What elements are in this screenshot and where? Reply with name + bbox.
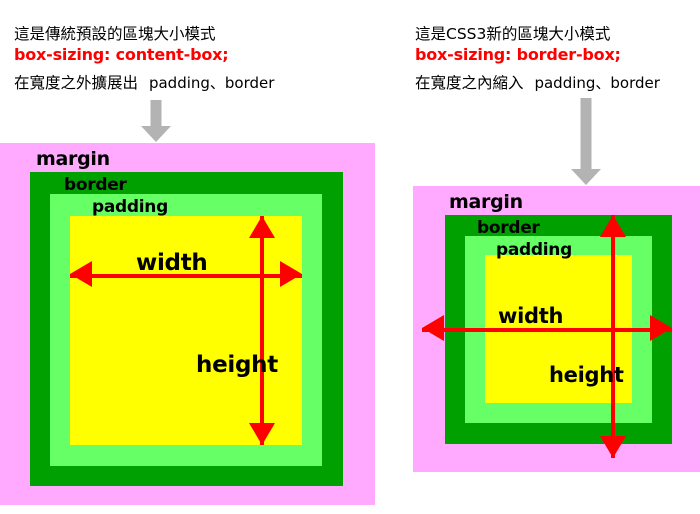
caption-line-3-code: padding、border bbox=[149, 74, 274, 92]
label-padding: padding bbox=[92, 197, 168, 217]
caption-line-3-code: padding、border bbox=[534, 74, 659, 92]
down-arrow-right-icon bbox=[571, 98, 601, 185]
caption-code-line: box-sizing: content-box; bbox=[14, 45, 228, 64]
caption-line-1: 這是傳統預設的區塊大小模式 bbox=[14, 22, 216, 44]
label-padding: padding bbox=[496, 240, 572, 260]
measure-label-width: width bbox=[498, 304, 563, 328]
panel-content-box: 這是傳統預設的區塊大小模式 box-sizing: content-box; 在… bbox=[0, 0, 400, 514]
down-arrow-left-icon bbox=[141, 100, 171, 142]
panel-border-box: 這是CSS3新的區塊大小模式 box-sizing: border-box; 在… bbox=[400, 0, 700, 514]
caption-line-3-prefix: 在寬度之外擴展出 bbox=[14, 74, 138, 92]
label-margin: margin bbox=[449, 191, 523, 213]
caption-line-1: 這是CSS3新的區塊大小模式 bbox=[415, 22, 610, 44]
caption-line-3-prefix: 在寬度之內縮入 bbox=[415, 74, 524, 92]
label-border: border bbox=[64, 175, 127, 195]
caption-line-3: 在寬度之內縮入 padding、border bbox=[415, 71, 660, 93]
label-margin: margin bbox=[36, 148, 110, 170]
caption-line-3: 在寬度之外擴展出 padding、border bbox=[14, 71, 274, 93]
measure-label-height: height bbox=[549, 363, 624, 387]
measure-label-height: height bbox=[196, 352, 278, 378]
label-border: border bbox=[477, 218, 540, 238]
caption-code-line: box-sizing: border-box; bbox=[415, 45, 621, 64]
measure-label-width: width bbox=[136, 250, 207, 276]
